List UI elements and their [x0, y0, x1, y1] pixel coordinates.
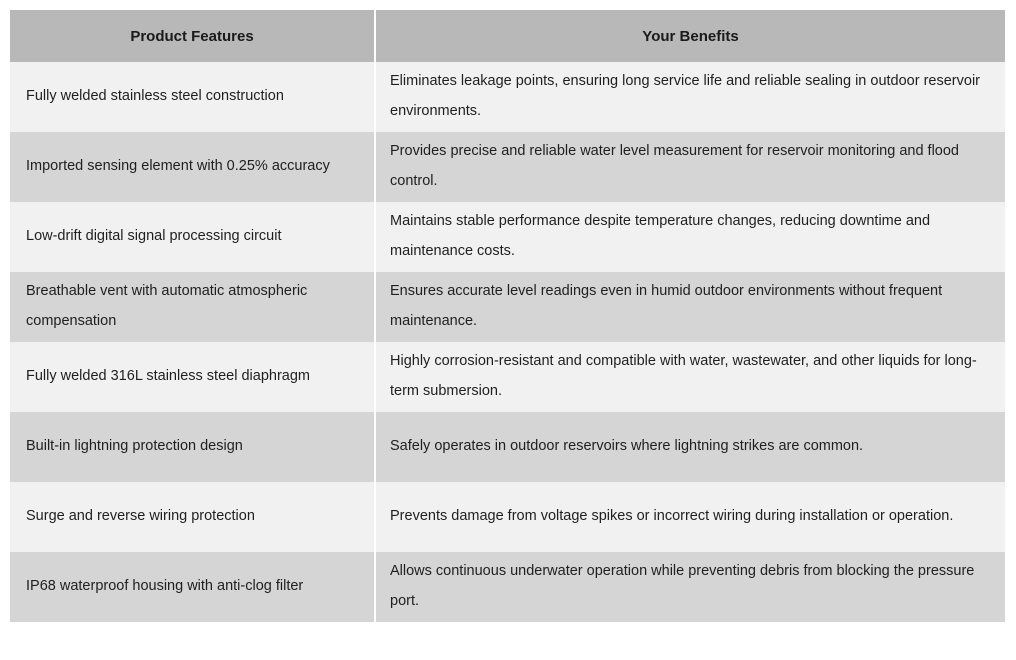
cell-your-benefit: Eliminates leakage points, ensuring long… [376, 62, 1005, 132]
cell-your-benefit: Highly corrosion-resistant and compatibl… [376, 342, 1005, 412]
table-row: Built-in lightning protection designSafe… [10, 412, 1005, 482]
table-header: Product Features Your Benefits [10, 10, 1005, 62]
cell-your-benefit: Provides precise and reliable water leve… [376, 132, 1005, 202]
cell-product-feature: Fully welded 316L stainless steel diaphr… [10, 342, 376, 412]
feature-benefit-table: Product Features Your Benefits Fully wel… [10, 10, 1005, 622]
table-row: Low-drift digital signal processing circ… [10, 202, 1005, 272]
table-body: Fully welded stainless steel constructio… [10, 62, 1005, 622]
table-row: Breathable vent with automatic atmospher… [10, 272, 1005, 342]
cell-your-benefit: Maintains stable performance despite tem… [376, 202, 1005, 272]
cell-product-feature: Surge and reverse wiring protection [10, 482, 376, 552]
cell-product-feature: IP68 waterproof housing with anti-clog f… [10, 552, 376, 622]
cell-product-feature: Fully welded stainless steel constructio… [10, 62, 376, 132]
table-row: Fully welded stainless steel constructio… [10, 62, 1005, 132]
table-row: Surge and reverse wiring protectionPreve… [10, 482, 1005, 552]
cell-product-feature: Imported sensing element with 0.25% accu… [10, 132, 376, 202]
column-header-product-features: Product Features [10, 10, 376, 62]
cell-product-feature: Low-drift digital signal processing circ… [10, 202, 376, 272]
cell-product-feature: Built-in lightning protection design [10, 412, 376, 482]
cell-your-benefit: Allows continuous underwater operation w… [376, 552, 1005, 622]
table-row: Imported sensing element with 0.25% accu… [10, 132, 1005, 202]
cell-your-benefit: Ensures accurate level readings even in … [376, 272, 1005, 342]
cell-your-benefit: Safely operates in outdoor reservoirs wh… [376, 412, 1005, 482]
table-header-row: Product Features Your Benefits [10, 10, 1005, 62]
feature-benefit-table-container: Product Features Your Benefits Fully wel… [10, 10, 1005, 622]
cell-product-feature: Breathable vent with automatic atmospher… [10, 272, 376, 342]
table-row: Fully welded 316L stainless steel diaphr… [10, 342, 1005, 412]
cell-your-benefit: Prevents damage from voltage spikes or i… [376, 482, 1005, 552]
column-header-your-benefits: Your Benefits [376, 10, 1005, 62]
table-row: IP68 waterproof housing with anti-clog f… [10, 552, 1005, 622]
